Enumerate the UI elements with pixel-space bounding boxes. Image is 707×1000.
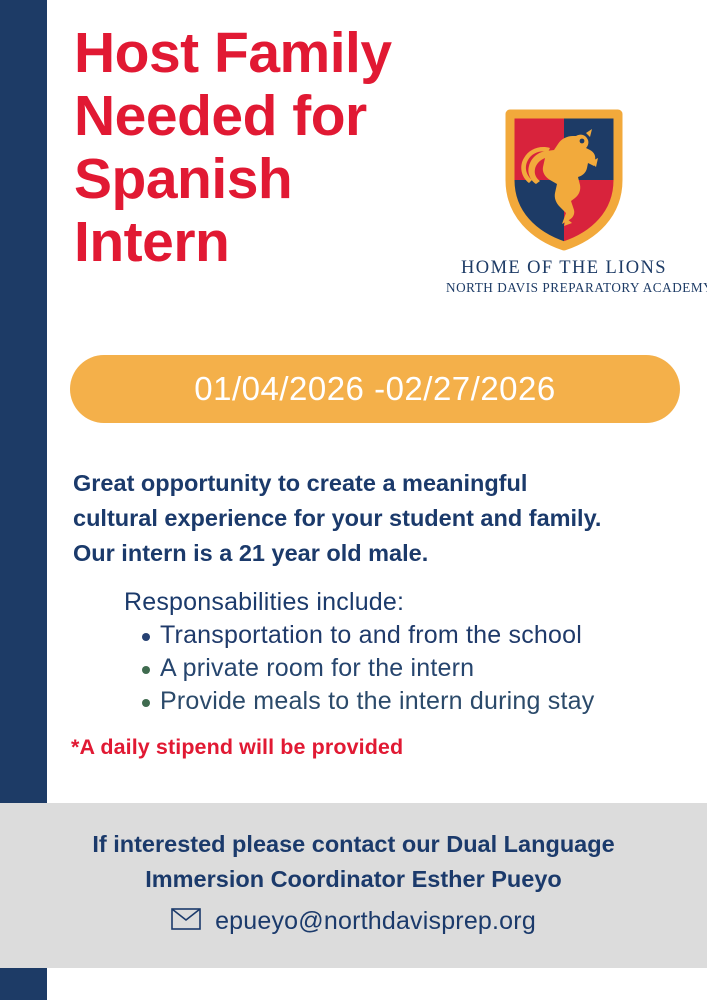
bullet-icon [142, 633, 150, 641]
logo-tagline: HOME OF THE LIONS [446, 258, 682, 279]
list-item-label: Provide meals to the intern during stay [160, 687, 594, 715]
contact-heading: If interested please contact our Dual La… [0, 827, 707, 897]
page-title: Host Family Needed for Spanish Intern [74, 22, 474, 274]
contact-email-address[interactable]: epueyo@northdavisprep.org [215, 907, 536, 936]
lead-paragraph: Great opportunity to create a meaningful… [73, 466, 673, 571]
responsibilities-title: Responsabilities include: [124, 586, 684, 619]
lead-line-1: Great opportunity to create a meaningful [73, 466, 673, 501]
contact-footer-panel: If interested please contact our Dual La… [0, 803, 707, 968]
date-range-text: 01/04/2026 -02/27/2026 [194, 370, 555, 408]
date-range-badge: 01/04/2026 -02/27/2026 [70, 355, 680, 423]
list-item: Transportation to and from the school [124, 619, 684, 652]
headline-line-1: Host Family [74, 22, 474, 85]
list-item-label: A private room for the intern [160, 654, 474, 682]
school-logo: HOME OF THE LIONS NORTH DAVIS PREPARATOR… [446, 104, 682, 296]
shield-crest-icon [446, 104, 682, 254]
contact-email-row[interactable]: epueyo@northdavisprep.org [0, 907, 707, 936]
bullet-icon [142, 666, 150, 674]
envelope-icon [171, 908, 201, 935]
list-item-label: Transportation to and from the school [160, 621, 582, 649]
logo-school-name: NORTH DAVIS PREPARATORY ACADEMY [446, 280, 682, 296]
contact-heading-line-2: Immersion Coordinator Esther Pueyo [0, 862, 707, 897]
lead-line-3: Our intern is a 21 year old male. [73, 536, 673, 571]
responsibilities-section: Responsabilities include: Transportation… [124, 586, 684, 718]
headline-line-2: Needed for [74, 85, 474, 148]
list-item: Provide meals to the intern during stay [124, 685, 684, 718]
list-item: A private room for the intern [124, 652, 684, 685]
bullet-icon [142, 699, 150, 707]
headline-line-3: Spanish [74, 148, 474, 211]
lead-line-2: cultural experience for your student and… [73, 501, 673, 536]
poster-root: Host Family Needed for Spanish Intern [0, 0, 707, 1000]
envelope-svg [171, 908, 201, 930]
contact-heading-line-1: If interested please contact our Dual La… [0, 827, 707, 862]
headline-line-4: Intern [74, 211, 474, 274]
shield-svg [502, 106, 626, 252]
responsibilities-list: Transportation to and from the school A … [124, 619, 684, 718]
stipend-note: *A daily stipend will be provided [71, 735, 403, 760]
